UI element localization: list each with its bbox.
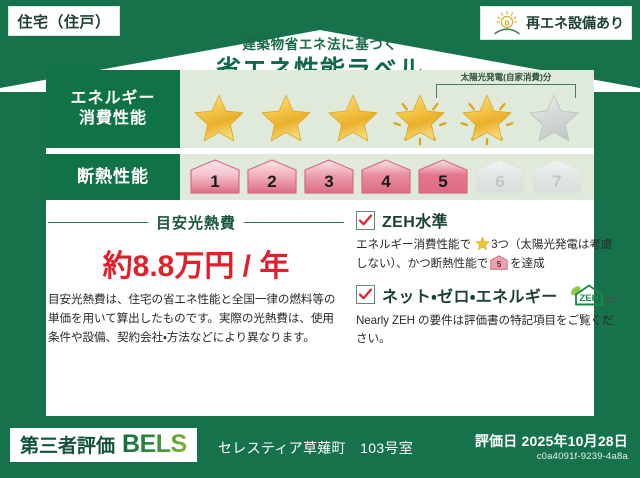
- net-zero-energy-checkbox: [356, 285, 375, 304]
- insulation-level-number: 2: [245, 172, 299, 192]
- net-zero-energy-body: Nearly ZEH の要件は評価書の特記項目をご覧ください。: [356, 312, 619, 350]
- energy-performance-stars-panel: 太陽光発電(自家消費)分: [180, 70, 594, 148]
- insulation-level-1: 1: [188, 158, 242, 196]
- estimated-cost-heading: 目安光熱費: [48, 212, 344, 233]
- insulation-level-panel: 1234567: [180, 154, 594, 200]
- heading-rule-left: [48, 222, 148, 224]
- insulation-level-7: 7: [530, 158, 584, 196]
- insulation-level-number: 7: [530, 172, 584, 192]
- star-3: [320, 86, 386, 146]
- energy-star-rating: [186, 86, 590, 146]
- estimated-cost-heading-text: 目安光熱費: [156, 212, 236, 233]
- svg-text:ZEH: ZEH: [579, 293, 598, 304]
- bels-japanese-text: 第三者評価: [20, 431, 115, 458]
- zeh-standard-block: ZEH水準 エネルギー消費性能で 3つ（太陽光発電は考慮しない）、かつ断熱性能で…: [356, 208, 619, 274]
- net-zero-energy-block: ネット・ゼロ・エネルギー ZEH Nearly ZEH Nearly ZEH の…: [356, 282, 619, 350]
- evaluation-id: c0a4091f-9239-4a8a: [537, 451, 628, 462]
- building-type-text: 住宅（住戸）: [17, 11, 110, 32]
- evaluation-date: 評価日 2025年10月28日: [475, 431, 628, 451]
- insulation-level-number: 4: [359, 172, 413, 192]
- svg-text:5: 5: [497, 260, 502, 269]
- insulation-performance-label: 断熱性能: [46, 154, 180, 200]
- label-content: エネルギー 消費性能 太陽光発電(自家消費)分 断熱性能 1234567: [46, 70, 594, 357]
- net-zero-energy-title: ネット・ゼロ・エネルギー: [382, 283, 558, 307]
- energy-performance-label: エネルギー 消費性能: [46, 70, 180, 148]
- check-icon: [358, 287, 373, 302]
- title-subtitle: 建築物省エネ法に基づく: [0, 38, 640, 53]
- solar-bracket-label: 太陽光発電(自家消費)分: [432, 71, 580, 83]
- bels-logo-text: BELS: [122, 432, 187, 457]
- insulation-level-number: 6: [473, 172, 527, 192]
- star-icon: [475, 236, 490, 251]
- insulation-level-2: 2: [245, 158, 299, 196]
- label-footer: 第三者評価 BELS セレスティア草薙町 103号室 評価日 2025年10月2…: [0, 416, 640, 478]
- net-zero-energy-header: ネット・ゼロ・エネルギー ZEH Nearly ZEH: [356, 282, 619, 308]
- zeh-body-pre: エネルギー消費性能で: [356, 238, 471, 251]
- insulation-level-6: 6: [473, 158, 527, 196]
- zeh-standard-body: エネルギー消費性能で 3つ（太陽光発電は考慮しない）、かつ断熱性能で 5 を達成: [356, 236, 619, 274]
- zeh-standard-title: ZEH水準: [382, 208, 448, 232]
- estimated-cost-column: 目安光熱費 約8.8万円 / 年 目安光熱費は、住宅の省エネ性能と全国一律の燃料…: [46, 208, 350, 357]
- estimated-cost-amount: 約8.8万円 / 年: [48, 241, 344, 285]
- star-6: [521, 86, 587, 146]
- insulation-level-number: 1: [188, 172, 242, 192]
- energy-label-line1: エネルギー: [70, 89, 155, 109]
- zeh-body-post: を達成: [510, 257, 544, 270]
- star-4: [387, 86, 453, 146]
- energy-label-card: 住宅（住戸） D 再エネ設備あり: [0, 0, 640, 478]
- insulation-level-badge-inline: 5: [490, 255, 508, 270]
- svg-text:ZEH: ZEH: [605, 299, 613, 304]
- zeh-column: ZEH水準 エネルギー消費性能で 3つ（太陽光発電は考慮しない）、かつ断熱性能で…: [350, 208, 619, 357]
- insulation-level-number: 3: [302, 172, 356, 192]
- star-5: [454, 86, 520, 146]
- energy-performance-row: エネルギー 消費性能 太陽光発電(自家消費)分: [46, 70, 594, 148]
- zeh-standard-checkbox: [356, 211, 375, 230]
- property-name: セレスティア草薙町 103号室: [218, 438, 413, 458]
- zeh-standard-header: ZEH水準: [356, 208, 619, 232]
- energy-label-line2: 消費性能: [79, 109, 147, 129]
- svg-text:D: D: [504, 20, 509, 27]
- label-lower-section: 目安光熱費 約8.8万円 / 年 目安光熱費は、住宅の省エネ性能と全国一律の燃料…: [46, 208, 594, 357]
- check-icon: [358, 213, 373, 228]
- insulation-level-4: 4: [359, 158, 413, 196]
- insulation-level-5: 5: [416, 158, 470, 196]
- insulation-performance-row: 断熱性能 1234567: [46, 154, 594, 200]
- star-1: [186, 86, 252, 146]
- zeh-house-logo: ZEH Nearly ZEH: [567, 282, 619, 308]
- insulation-label-text: 断熱性能: [77, 166, 149, 187]
- insulation-level-3: 3: [302, 158, 356, 196]
- heading-rule-right: [244, 222, 344, 224]
- insulation-level-number: 5: [416, 172, 470, 192]
- estimated-cost-note: 目安光熱費は、住宅の省エネ性能と全国一律の燃料等の単価を用いて算出したものです。…: [48, 291, 344, 347]
- insulation-level-scale: 1234567: [188, 158, 584, 196]
- star-2: [253, 86, 319, 146]
- bels-badge: 第三者評価 BELS: [10, 428, 197, 462]
